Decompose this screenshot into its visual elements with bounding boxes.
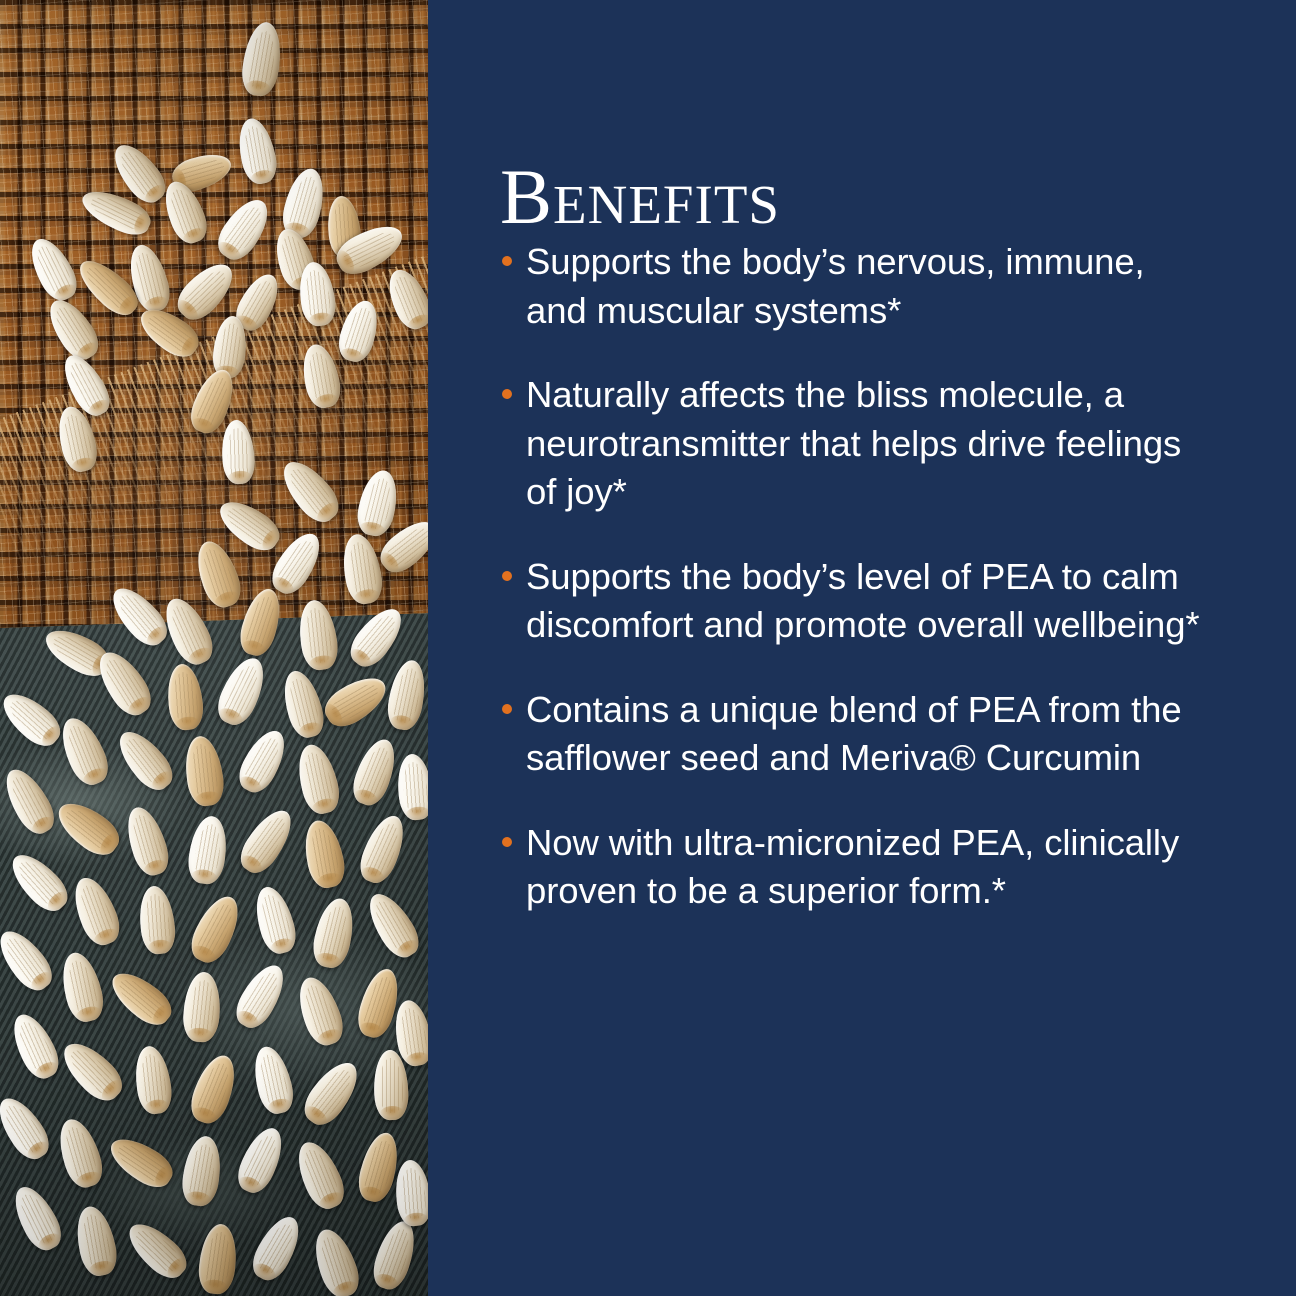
safflower-seed [309,895,359,971]
safflower-seed [54,1034,129,1109]
safflower-seed [289,1136,350,1215]
safflower-seed-photo [0,0,428,1296]
seed-layer [0,0,428,1296]
list-item: Contains a unique blend of PEA from the … [500,686,1206,783]
safflower-seed [298,341,345,411]
safflower-seed [229,958,292,1034]
safflower-seed [299,817,348,891]
safflower-seed [248,1043,297,1117]
safflower-seed [5,1008,65,1084]
safflower-seed [179,1134,224,1208]
list-item: Now with ultra-micronized PEA, clinicall… [500,819,1206,916]
safflower-seed [0,762,61,840]
safflower-seed [211,652,272,731]
safflower-seed [249,883,300,958]
safflower-seed [184,890,247,969]
safflower-seed [165,662,206,731]
safflower-seed [234,115,281,187]
safflower-seed [354,467,403,539]
benefit-text: Naturally affects the bliss molecule, a … [526,371,1206,517]
bullet-icon [502,256,512,266]
safflower-seed [297,1054,367,1132]
safflower-seed [235,585,286,660]
safflower-seed [104,964,179,1033]
safflower-seed [239,20,285,98]
safflower-seed [211,192,278,267]
safflower-seed [233,802,300,879]
safflower-seed [103,1130,179,1195]
safflower-seed [181,734,226,808]
safflower-seed [66,872,126,950]
bullet-icon [502,571,512,581]
safflower-seed [22,232,83,306]
safflower-seed [381,264,428,334]
safflower-seed [354,810,412,888]
safflower-seed [185,814,230,886]
safflower-seed [189,536,246,612]
list-item: Naturally affects the bliss molecule, a … [500,371,1206,517]
page-title: Benefits [500,158,780,236]
safflower-seed [232,1122,291,1198]
safflower-seed [232,724,293,798]
safflower-seed [395,752,428,821]
safflower-seed [334,297,384,366]
bullet-icon [502,389,512,399]
safflower-seed [131,1044,174,1116]
safflower-seed [220,419,256,485]
benefits-list: Supports the body’s nervous, immune, and… [500,238,1206,916]
safflower-seed [52,1114,108,1192]
safflower-seed [347,734,402,810]
safflower-seed [291,972,349,1050]
safflower-seed [120,802,174,879]
safflower-seed [0,923,59,998]
safflower-seed [292,741,344,818]
safflower-seed [110,723,180,797]
safflower-seed [56,949,108,1026]
benefit-text: Now with ultra-micronized PEA, clinicall… [526,819,1206,916]
benefit-text: Supports the body’s nervous, immune, and… [526,238,1206,335]
safflower-seed [274,453,347,530]
safflower-seed [0,685,67,753]
safflower-seed [295,598,340,672]
safflower-seed [318,668,393,734]
safflower-seed [71,1203,121,1279]
safflower-seed [0,1090,56,1165]
safflower-seed [212,492,286,557]
benefit-text: Supports the body’s level of PEA to calm… [526,553,1206,650]
bullet-icon [502,837,512,847]
safflower-seed [6,1180,68,1256]
safflower-seed [104,579,175,652]
benefit-text: Contains a unique blend of PEA from the … [526,686,1206,783]
list-item: Supports the body’s level of PEA to calm… [500,553,1206,650]
safflower-seed [368,1216,422,1293]
safflower-seed [246,1210,308,1286]
list-item: Supports the body’s nervous, immune, and… [500,238,1206,335]
safflower-seed [50,793,126,862]
safflower-seed [196,1222,239,1295]
safflower-seed [307,1224,365,1296]
bullet-icon [502,704,512,714]
safflower-seed [338,531,386,606]
safflower-seed [360,886,426,963]
safflower-seed [137,884,178,955]
safflower-seed [393,1158,428,1227]
safflower-seed [53,712,114,791]
benefits-panel: Benefits Supports the body’s nervous, im… [428,0,1296,1296]
safflower-seed [3,846,75,919]
safflower-seed [182,971,223,1043]
safflower-seed [277,667,328,742]
safflower-seed [120,1215,193,1286]
safflower-seed [384,658,428,733]
safflower-seed [343,601,410,674]
product-benefits-graphic: Benefits Supports the body’s nervous, im… [0,0,1296,1296]
safflower-seed [185,1050,243,1128]
